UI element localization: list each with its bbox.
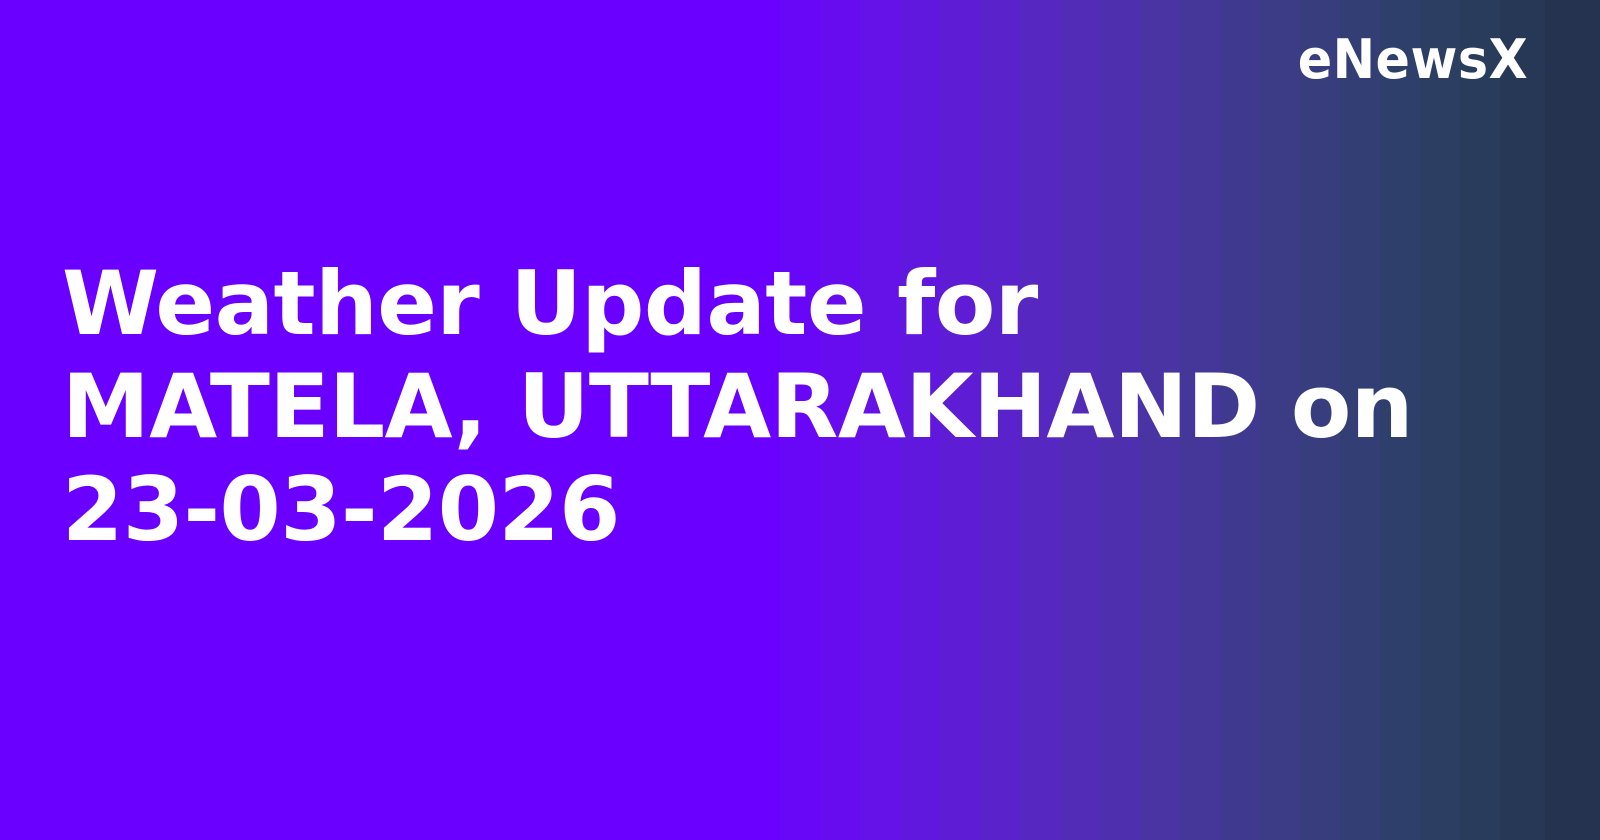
brand-logo[interactable]: eNewsX [1298,33,1528,87]
weather-update-banner: eNewsX Weather Update for MATELA, UTTARA… [0,0,1600,840]
page-title: Weather Update for MATELA, UTTARAKHAND o… [62,252,1492,561]
headline-container: Weather Update for MATELA, UTTARAKHAND o… [62,252,1492,561]
